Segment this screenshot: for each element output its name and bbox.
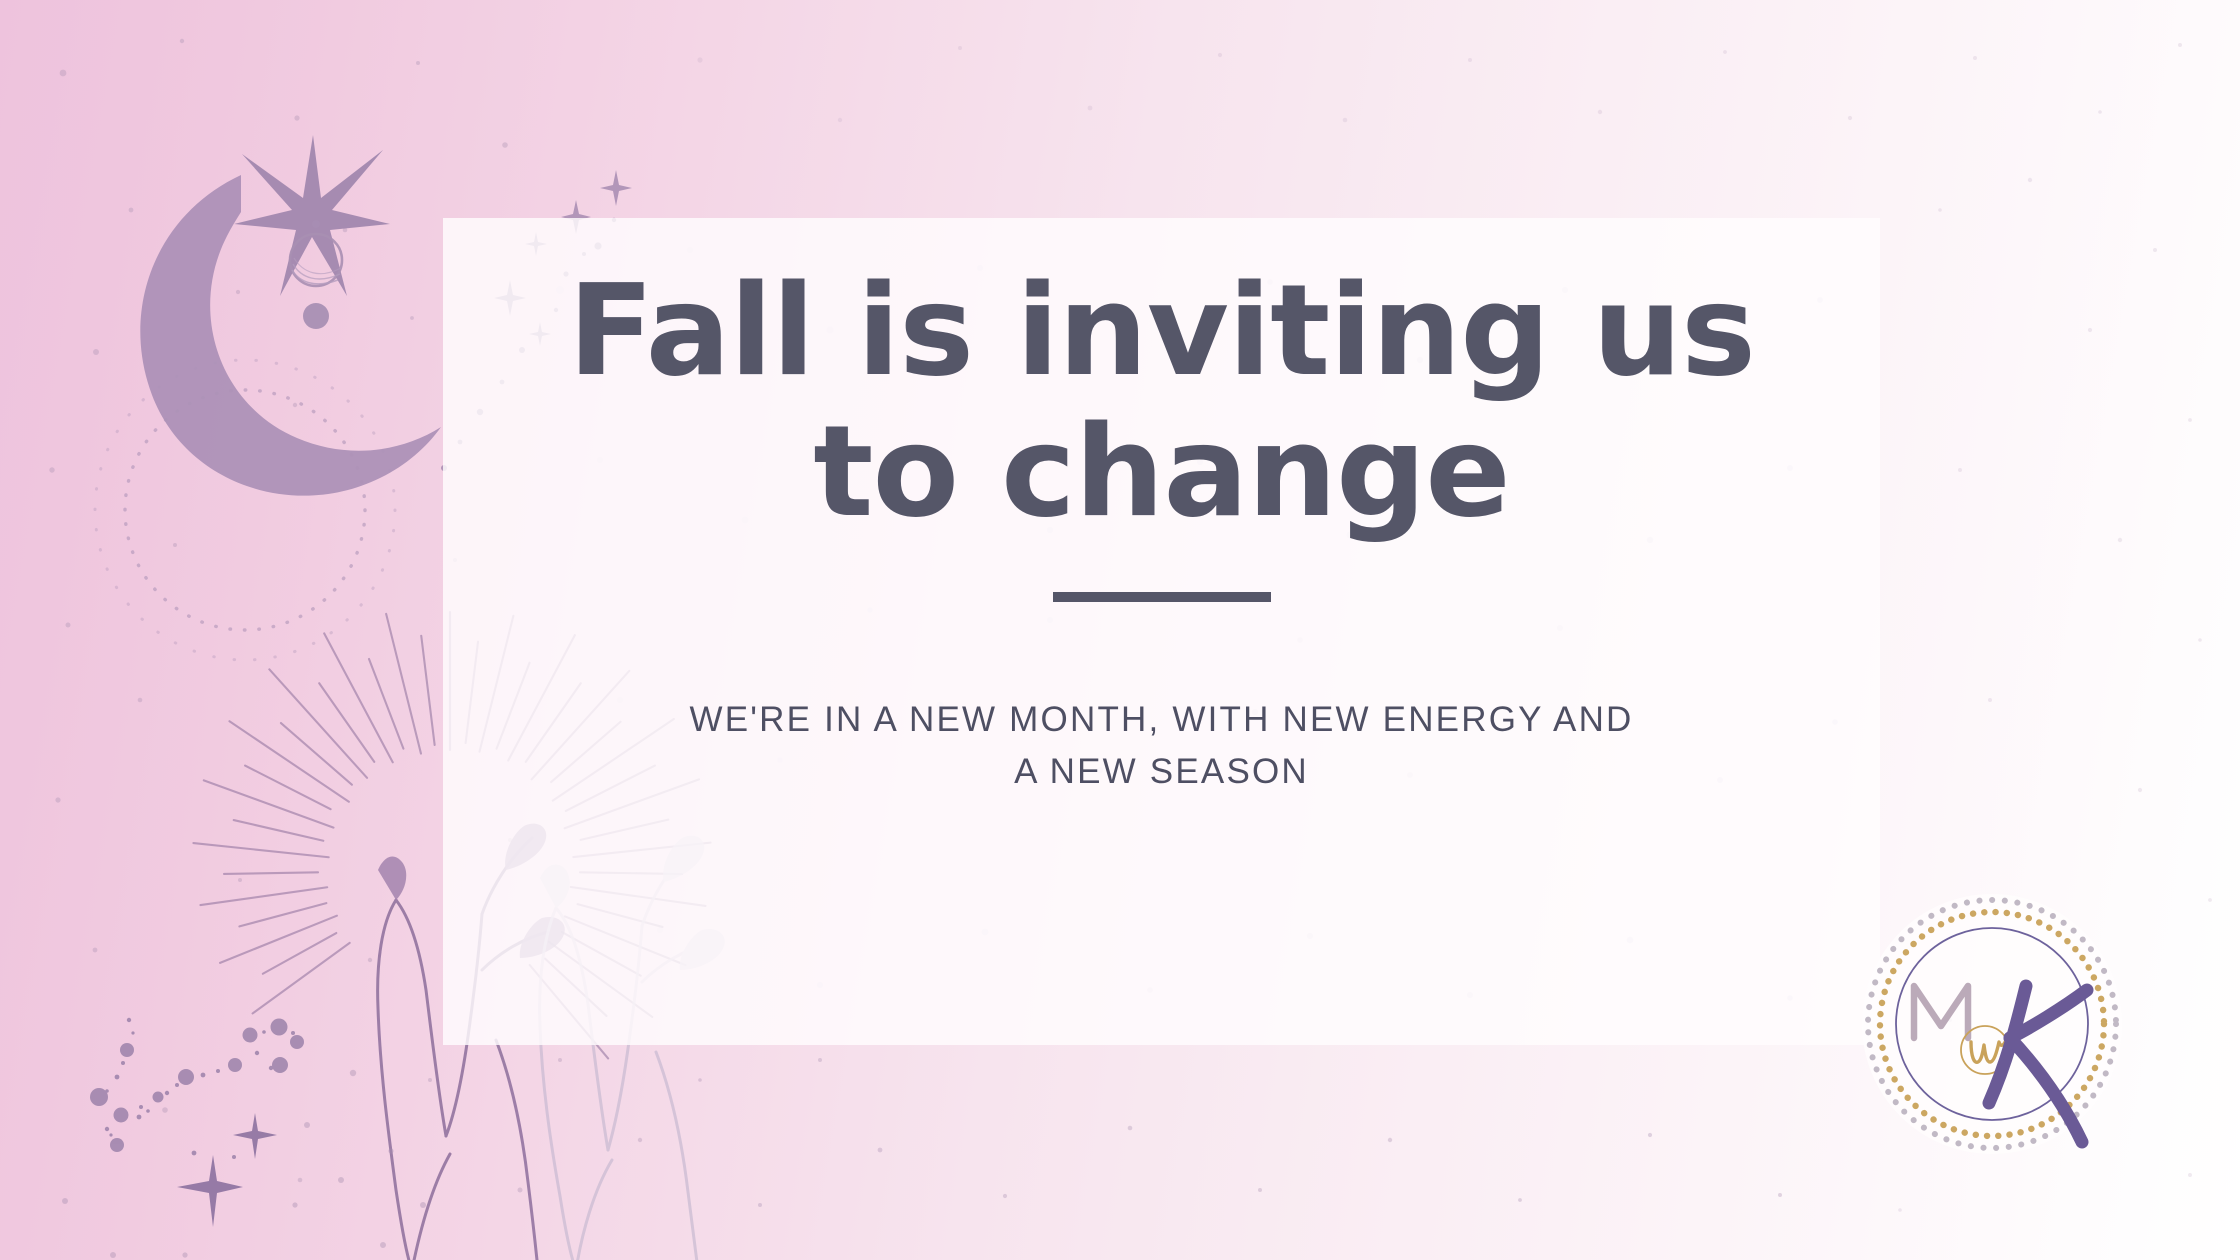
headline-line-1: Fall is inviting us	[443, 260, 1880, 401]
content-card-body: Fall is inviting us to change WE'RE IN A…	[443, 218, 1880, 1045]
constellation-icon	[55, 1005, 475, 1260]
subtitle: WE'RE IN A NEW MONTH, WITH NEW ENERGY AN…	[689, 694, 1633, 797]
slide-canvas: Fall is inviting us to change WE'RE IN A…	[0, 0, 2240, 1260]
subtitle-line-2: A NEW SEASON	[689, 746, 1633, 797]
six-point-star-icon	[234, 135, 390, 296]
sparkle-star-icon	[177, 1113, 277, 1227]
subtitle-line-1: WE'RE IN A NEW MONTH, WITH NEW ENERGY AN…	[689, 694, 1633, 745]
filled-dot-icon	[303, 303, 329, 329]
brand-monogram-logo[interactable]	[1858, 890, 2126, 1158]
page-title: Fall is inviting us to change	[443, 260, 1880, 542]
title-divider	[1053, 592, 1271, 602]
headline-line-2: to change	[443, 401, 1880, 542]
